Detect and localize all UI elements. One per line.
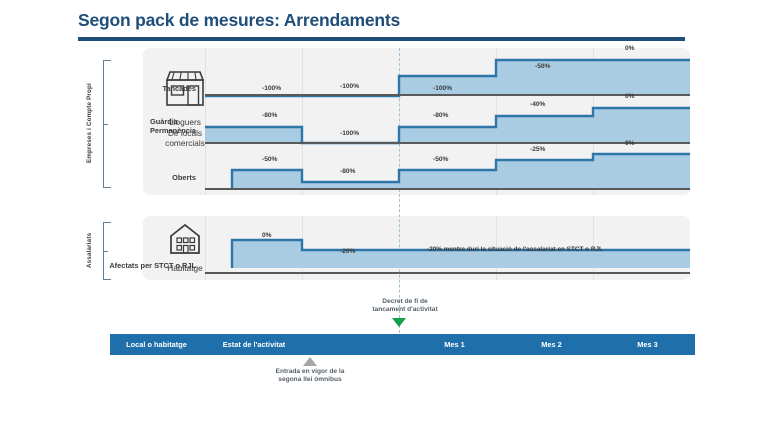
icon-caption-housing: Habitatge (146, 263, 224, 274)
slide-canvas: Segon pack de mesures: Arrendaments Empr… (0, 0, 768, 423)
caption-line-2: De locals (146, 128, 224, 139)
icon-caption-commercial: Lloguers De locals comercials (146, 117, 224, 149)
group-label-empreses: Empreses i Compte Propi (86, 60, 93, 186)
storefront-icon (162, 69, 208, 109)
group-label-assalariats: Assalariats (86, 222, 93, 278)
timeline-cell-local[interactable]: Local o habitatge (110, 334, 204, 355)
timeline-cell-estat[interactable]: Estat de l'activitat (203, 334, 306, 355)
house-icon (165, 222, 205, 256)
icon-housing-group: Habitatge (146, 222, 224, 274)
group-bracket-empreses (103, 60, 111, 188)
annotation-decree-line2: tancament d'activitat (340, 306, 470, 314)
annotation-entry-line2: segona llei òmnibus (245, 376, 375, 384)
caption-line-1: Lloguers (146, 117, 224, 128)
timeline-cell-mes-1[interactable]: Mes 1 (406, 334, 504, 355)
icon-commercial-group: Lloguers De locals comercials (146, 69, 224, 149)
title-rule (78, 37, 685, 41)
decree-marker-icon (392, 318, 406, 327)
timeline-cell-mes-3[interactable]: Mes 3 (600, 334, 695, 355)
annotation-decree-line1: Decret de fi de (340, 298, 470, 306)
panel-commercial (143, 48, 690, 195)
panel-housing (143, 216, 690, 280)
timeline-cell-mes-2[interactable]: Mes 2 (503, 334, 601, 355)
page-title: Segon pack de mesures: Arrendaments (78, 10, 400, 31)
annotation-entry: Entrada en vigor de la segona llei òmnib… (245, 368, 375, 385)
entry-marker-icon (303, 357, 317, 366)
timeline-cell-blank[interactable] (305, 334, 407, 355)
caption-line-3: comercials (146, 138, 224, 149)
annotation-entry-line1: Entrada en vigor de la (245, 368, 375, 376)
group-bracket-assalariats (103, 222, 111, 280)
annotation-decree: Decret de fi de tancament d'activitat (340, 298, 470, 315)
